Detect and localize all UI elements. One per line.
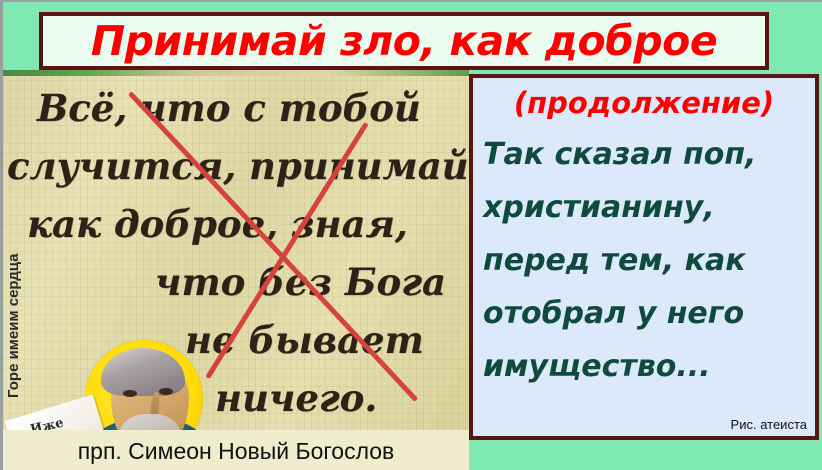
eye-right-icon <box>159 388 173 395</box>
credit-note: Рис. атеиста <box>731 417 807 432</box>
quote-line: что без Бога <box>155 264 446 301</box>
panel-line: Так сказал поп, <box>483 128 809 181</box>
source-caption-band: прп. Симеон Новый Богослов <box>3 430 469 470</box>
quote-line: случится, принимай <box>7 148 469 185</box>
panel-line: христианину, <box>483 181 809 234</box>
commentary-panel: (продолжение) Так сказал поп, христианин… <box>469 74 819 440</box>
panel-heading: (продолжение) <box>473 86 815 120</box>
panel-line: отобрал у него <box>483 287 809 340</box>
quote-line: ничего. <box>215 380 377 417</box>
parchment-image: Горе имеим сердца Всё, что с тобой случи… <box>3 70 469 432</box>
eye-left-icon <box>123 390 137 397</box>
panel-body: Так сказал поп, христианину, перед тем, … <box>483 128 809 393</box>
page-title: Принимай зло, как доброе <box>91 21 717 62</box>
quote-line: как доброе, зная, <box>27 206 408 243</box>
panel-line: имущество... <box>483 340 809 393</box>
saint-icon-illustration: Иже не иматъ есть <box>55 338 227 432</box>
quote-line: Всё, что с тобой <box>37 90 421 127</box>
panel-line: перед тем, как <box>483 234 809 287</box>
source-caption: прп. Симеон Новый Богослов <box>78 438 395 465</box>
title-banner: Принимай зло, как доброе <box>39 12 769 70</box>
slide-canvas: Принимай зло, как доброе Горе имеим серд… <box>0 0 822 470</box>
